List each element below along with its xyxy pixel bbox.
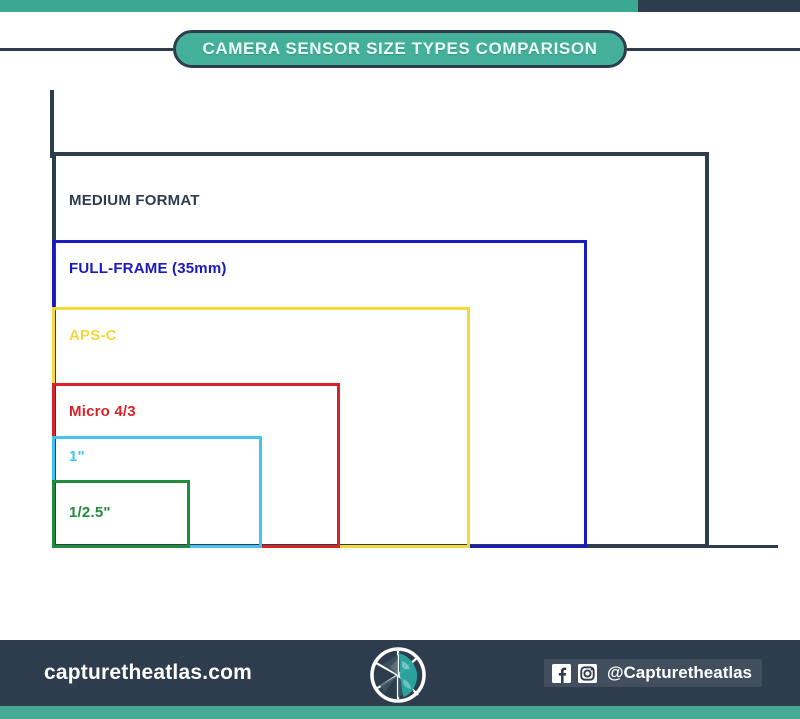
aperture-globe-logo: [368, 645, 428, 703]
facebook-icon[interactable]: [552, 664, 571, 683]
sensor-label: Micro 4/3: [69, 403, 136, 420]
sensor-size-chart: MEDIUM FORMATFULL-FRAME (35mm)APS-CMicro…: [0, 0, 800, 640]
instagram-icon[interactable]: [578, 664, 597, 683]
sensor-label: 1": [69, 448, 85, 465]
footer-bar: capturetheatlas.com: [0, 640, 800, 706]
infographic-page: CAMERA SENSOR SIZE TYPES COMPARISON MEDI…: [0, 0, 800, 719]
footer: capturetheatlas.com: [0, 640, 800, 719]
sensor-label: 1/2.5": [69, 504, 111, 521]
sensor-label: APS-C: [69, 327, 117, 344]
sensor-label: MEDIUM FORMAT: [69, 192, 200, 209]
footer-social-handle: @Capturetheatlas: [607, 663, 752, 683]
social-handle-group[interactable]: @Capturetheatlas: [544, 659, 762, 687]
footer-bottom-strip: [0, 706, 800, 719]
footer-site-url: capturetheatlas.com: [44, 661, 252, 685]
sensor-label: FULL-FRAME (35mm): [69, 260, 227, 277]
baseline-axis-line: [709, 545, 778, 548]
vertical-axis-line: [50, 90, 54, 158]
